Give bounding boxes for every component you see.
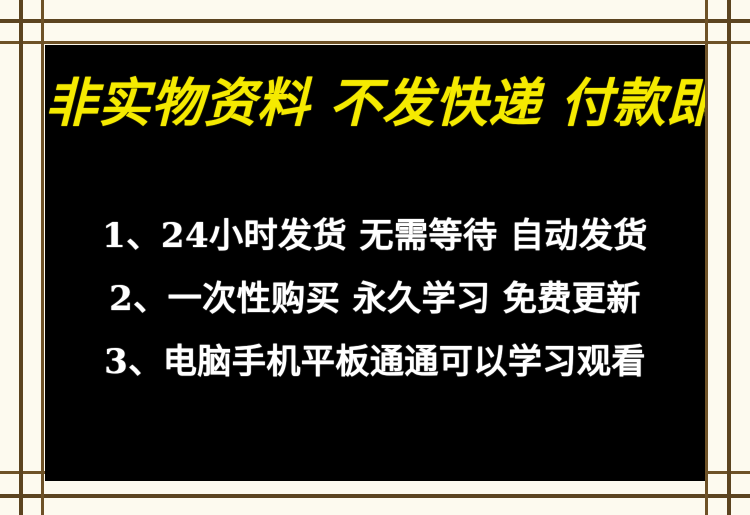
frame-rule-bottom-outer xyxy=(0,494,750,498)
frame-rule-left-outer xyxy=(19,0,23,515)
content-panel: 非实物资料 不发快递 付款即看 1、24小时发货 无需等待 自动发货 2、一次性… xyxy=(45,45,705,481)
promo-banner: 非实物资料 不发快递 付款即看 1、24小时发货 无需等待 自动发货 2、一次性… xyxy=(0,0,750,515)
headline-text: 非实物资料 不发快递 付款即看 xyxy=(45,77,705,132)
frame-rule-top-outer xyxy=(0,19,750,23)
frame-rule-right-outer xyxy=(727,0,731,515)
list-item: 3、电脑手机平板通通可以学习观看 xyxy=(45,331,705,394)
frame-rule-left-inner xyxy=(41,0,44,515)
frame-rule-top-inner xyxy=(0,41,750,44)
bullet-list: 1、24小时发货 无需等待 自动发货 2、一次性购买 永久学习 免费更新 3、电… xyxy=(45,205,705,394)
frame-rule-right-inner xyxy=(705,0,708,515)
list-item: 1、24小时发货 无需等待 自动发货 xyxy=(45,205,705,268)
list-item: 2、一次性购买 永久学习 免费更新 xyxy=(45,268,705,331)
